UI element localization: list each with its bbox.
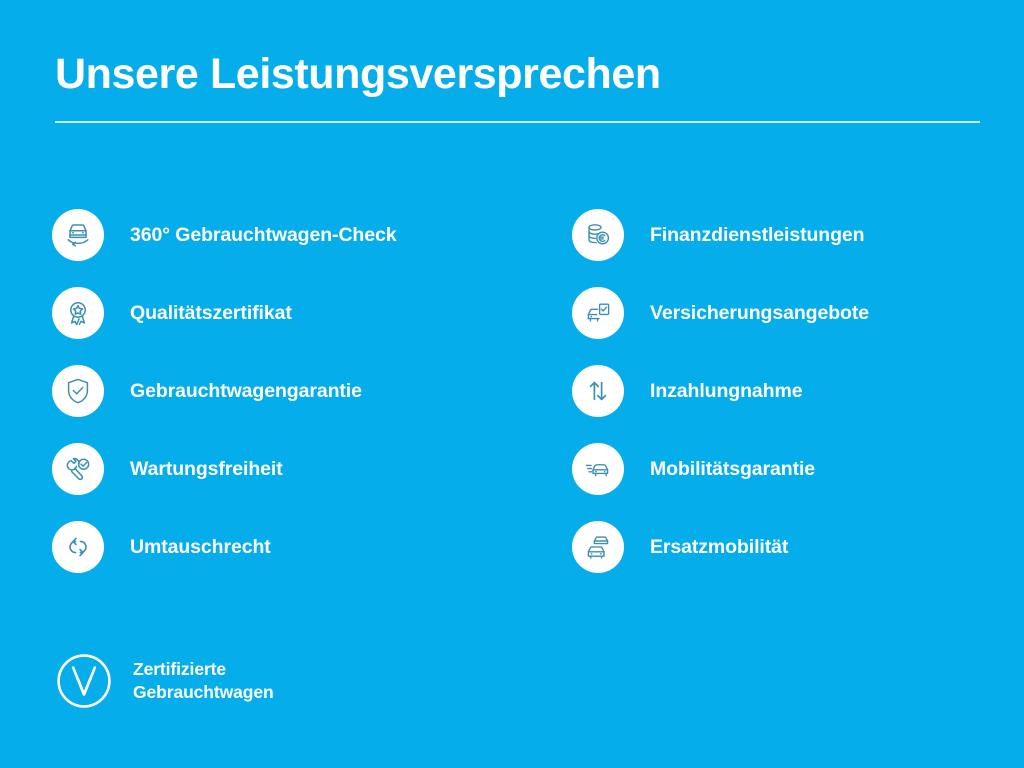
feature-row[interactable]: Umtauschrecht (52, 508, 396, 586)
award-rosette-icon (52, 287, 104, 339)
header-divider (55, 121, 980, 123)
feature-row[interactable]: Mobilitätsgarantie (572, 430, 869, 508)
feature-label: Wartungsfreiheit (130, 458, 283, 481)
car-document-check-icon (572, 287, 624, 339)
slide-root: Unsere Leistungsversprechen 360° Gebrauc… (0, 0, 1024, 768)
feature-label: Qualitätszertifikat (130, 302, 292, 325)
feature-row[interactable]: Versicherungsangebote (572, 274, 869, 352)
exchange-arrows-icon (52, 521, 104, 573)
feature-row[interactable]: Finanzdienstleistungen (572, 196, 869, 274)
brand-footer: Zertifizierte Gebrauchtwagen (55, 652, 274, 710)
shield-check-icon (52, 365, 104, 417)
page-title: Unsere Leistungsversprechen (55, 52, 980, 97)
feature-label: Inzahlungnahme (650, 380, 802, 403)
feature-row[interactable]: Gebrauchtwagengarantie (52, 352, 396, 430)
feature-row[interactable]: Wartungsfreiheit (52, 430, 396, 508)
feature-label: Umtauschrecht (130, 536, 271, 559)
wrench-check-icon (52, 443, 104, 495)
two-cars-icon (572, 521, 624, 573)
feature-row[interactable]: Inzahlungnahme (572, 352, 869, 430)
up-down-arrows-icon (572, 365, 624, 417)
header: Unsere Leistungsversprechen (55, 52, 980, 123)
brand-line-2: Gebrauchtwagen (133, 681, 274, 704)
volkswagen-logo (55, 652, 113, 710)
car-speed-icon (572, 443, 624, 495)
car-360-check-icon (52, 209, 104, 261)
feature-label: Gebrauchtwagengarantie (130, 380, 362, 403)
feature-row[interactable]: Qualitätszertifikat (52, 274, 396, 352)
feature-label: Mobilitätsgarantie (650, 458, 815, 481)
feature-label: Versicherungsangebote (650, 302, 869, 325)
feature-row[interactable]: 360° Gebrauchtwagen-Check (52, 196, 396, 274)
feature-label: Finanzdienstleistungen (650, 224, 864, 247)
brand-text: Zertifizierte Gebrauchtwagen (133, 658, 274, 704)
coins-euro-icon (572, 209, 624, 261)
brand-line-1: Zertifizierte (133, 658, 274, 681)
feature-label: Ersatzmobilität (650, 536, 788, 559)
features-right-column: Finanzdienstleistungen Versicherungsange… (572, 196, 869, 586)
feature-label: 360° Gebrauchtwagen-Check (130, 224, 396, 247)
feature-row[interactable]: Ersatzmobilität (572, 508, 869, 586)
features-left-column: 360° Gebrauchtwagen-Check Qualitätszerti… (52, 196, 396, 586)
